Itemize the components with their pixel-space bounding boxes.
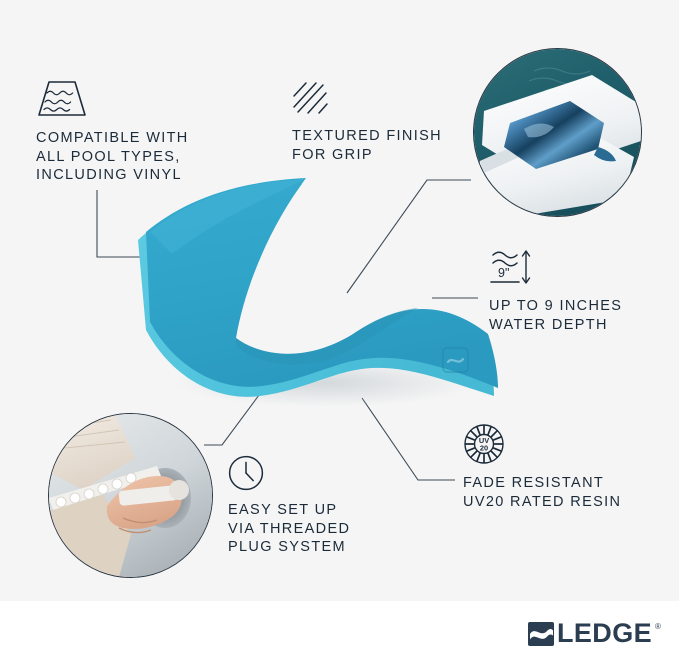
pool-cross-section-icon [36, 78, 88, 120]
feature-textured: TEXTURED FINISH FOR GRIP [292, 80, 442, 164]
pool-lounger-illustration [110, 170, 510, 420]
feature-depth: 9" UP TO 9 INCHES WATER DEPTH [489, 246, 622, 334]
pillow-photo [473, 48, 642, 217]
ledge-wave-mark-icon [528, 621, 554, 647]
feature-setup-label: EASY SET UP VIA THREADED PLUG SYSTEM [228, 501, 350, 557]
feature-uv-label: FADE RESISTANT UV20 RATED RESIN [463, 474, 621, 511]
water-depth-icon: 9" [489, 246, 545, 290]
lounger-svg [110, 170, 510, 420]
water-depth-value: 9" [498, 266, 509, 280]
uv-sun-icon: UV 20 [463, 423, 505, 465]
clock-icon [228, 455, 264, 491]
feature-setup: EASY SET UP VIA THREADED PLUG SYSTEM [228, 455, 350, 557]
brand-logo: LEDGE ® [528, 620, 661, 647]
product-infographic: COMPATIBLE WITH ALL POOL TYPES, INCLUDIN… [0, 0, 679, 651]
plug-photo [48, 413, 213, 578]
brand-name: LEDGE [557, 620, 652, 647]
feature-textured-label: TEXTURED FINISH FOR GRIP [292, 127, 442, 164]
uv-icon-line2: 20 [480, 444, 488, 453]
pillow-photo-art [474, 49, 641, 216]
brand-trademark: ® [655, 622, 661, 631]
hatch-texture-icon [292, 80, 330, 116]
plug-photo-art [49, 414, 212, 577]
feature-uv: UV 20 FADE RESISTANT UV20 RATED RESIN [463, 423, 621, 511]
feature-compatible: COMPATIBLE WITH ALL POOL TYPES, INCLUDIN… [36, 78, 189, 185]
feature-compatible-label: COMPATIBLE WITH ALL POOL TYPES, INCLUDIN… [36, 129, 189, 185]
feature-depth-label: UP TO 9 INCHES WATER DEPTH [489, 297, 622, 334]
